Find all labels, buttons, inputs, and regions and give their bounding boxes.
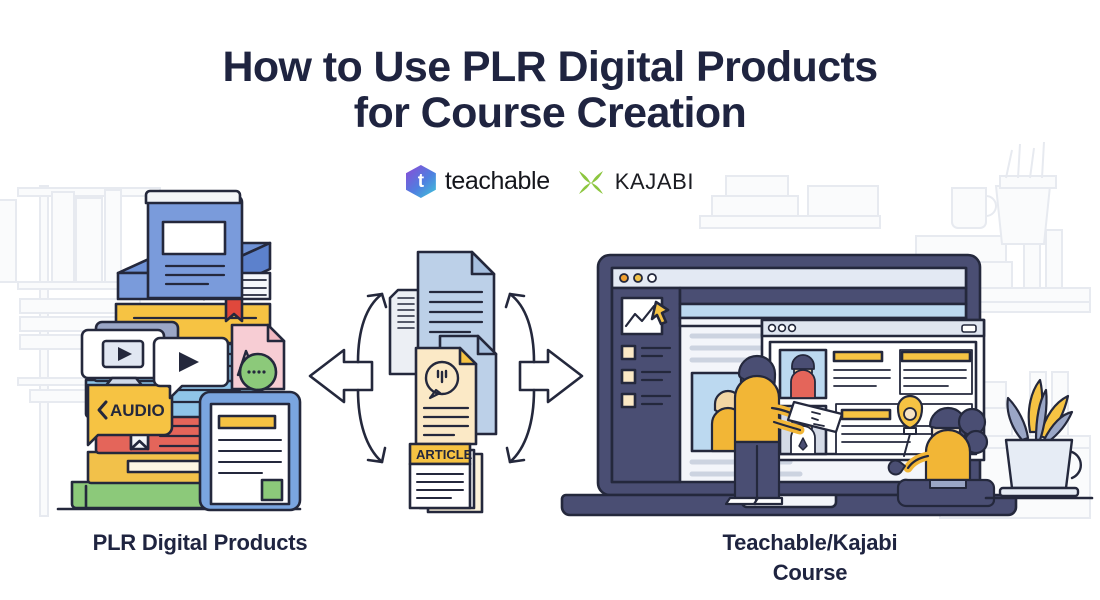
seated-woman-figure xyxy=(889,396,994,506)
infographic-canvas: How to Use PLR Digital Products for Cour… xyxy=(0,0,1100,600)
potted-plant xyxy=(986,380,1092,498)
right-caption-line-1: Teachable/Kajabi xyxy=(723,530,898,555)
teachable-kajabi-course-illustration xyxy=(0,0,1100,600)
left-caption-text: PLR Digital Products xyxy=(93,530,308,555)
left-caption: PLR Digital Products xyxy=(40,528,360,558)
right-caption-line-2: Course xyxy=(773,560,848,585)
right-caption: Teachable/Kajabi Course xyxy=(640,528,980,588)
student-card-red xyxy=(780,350,826,398)
